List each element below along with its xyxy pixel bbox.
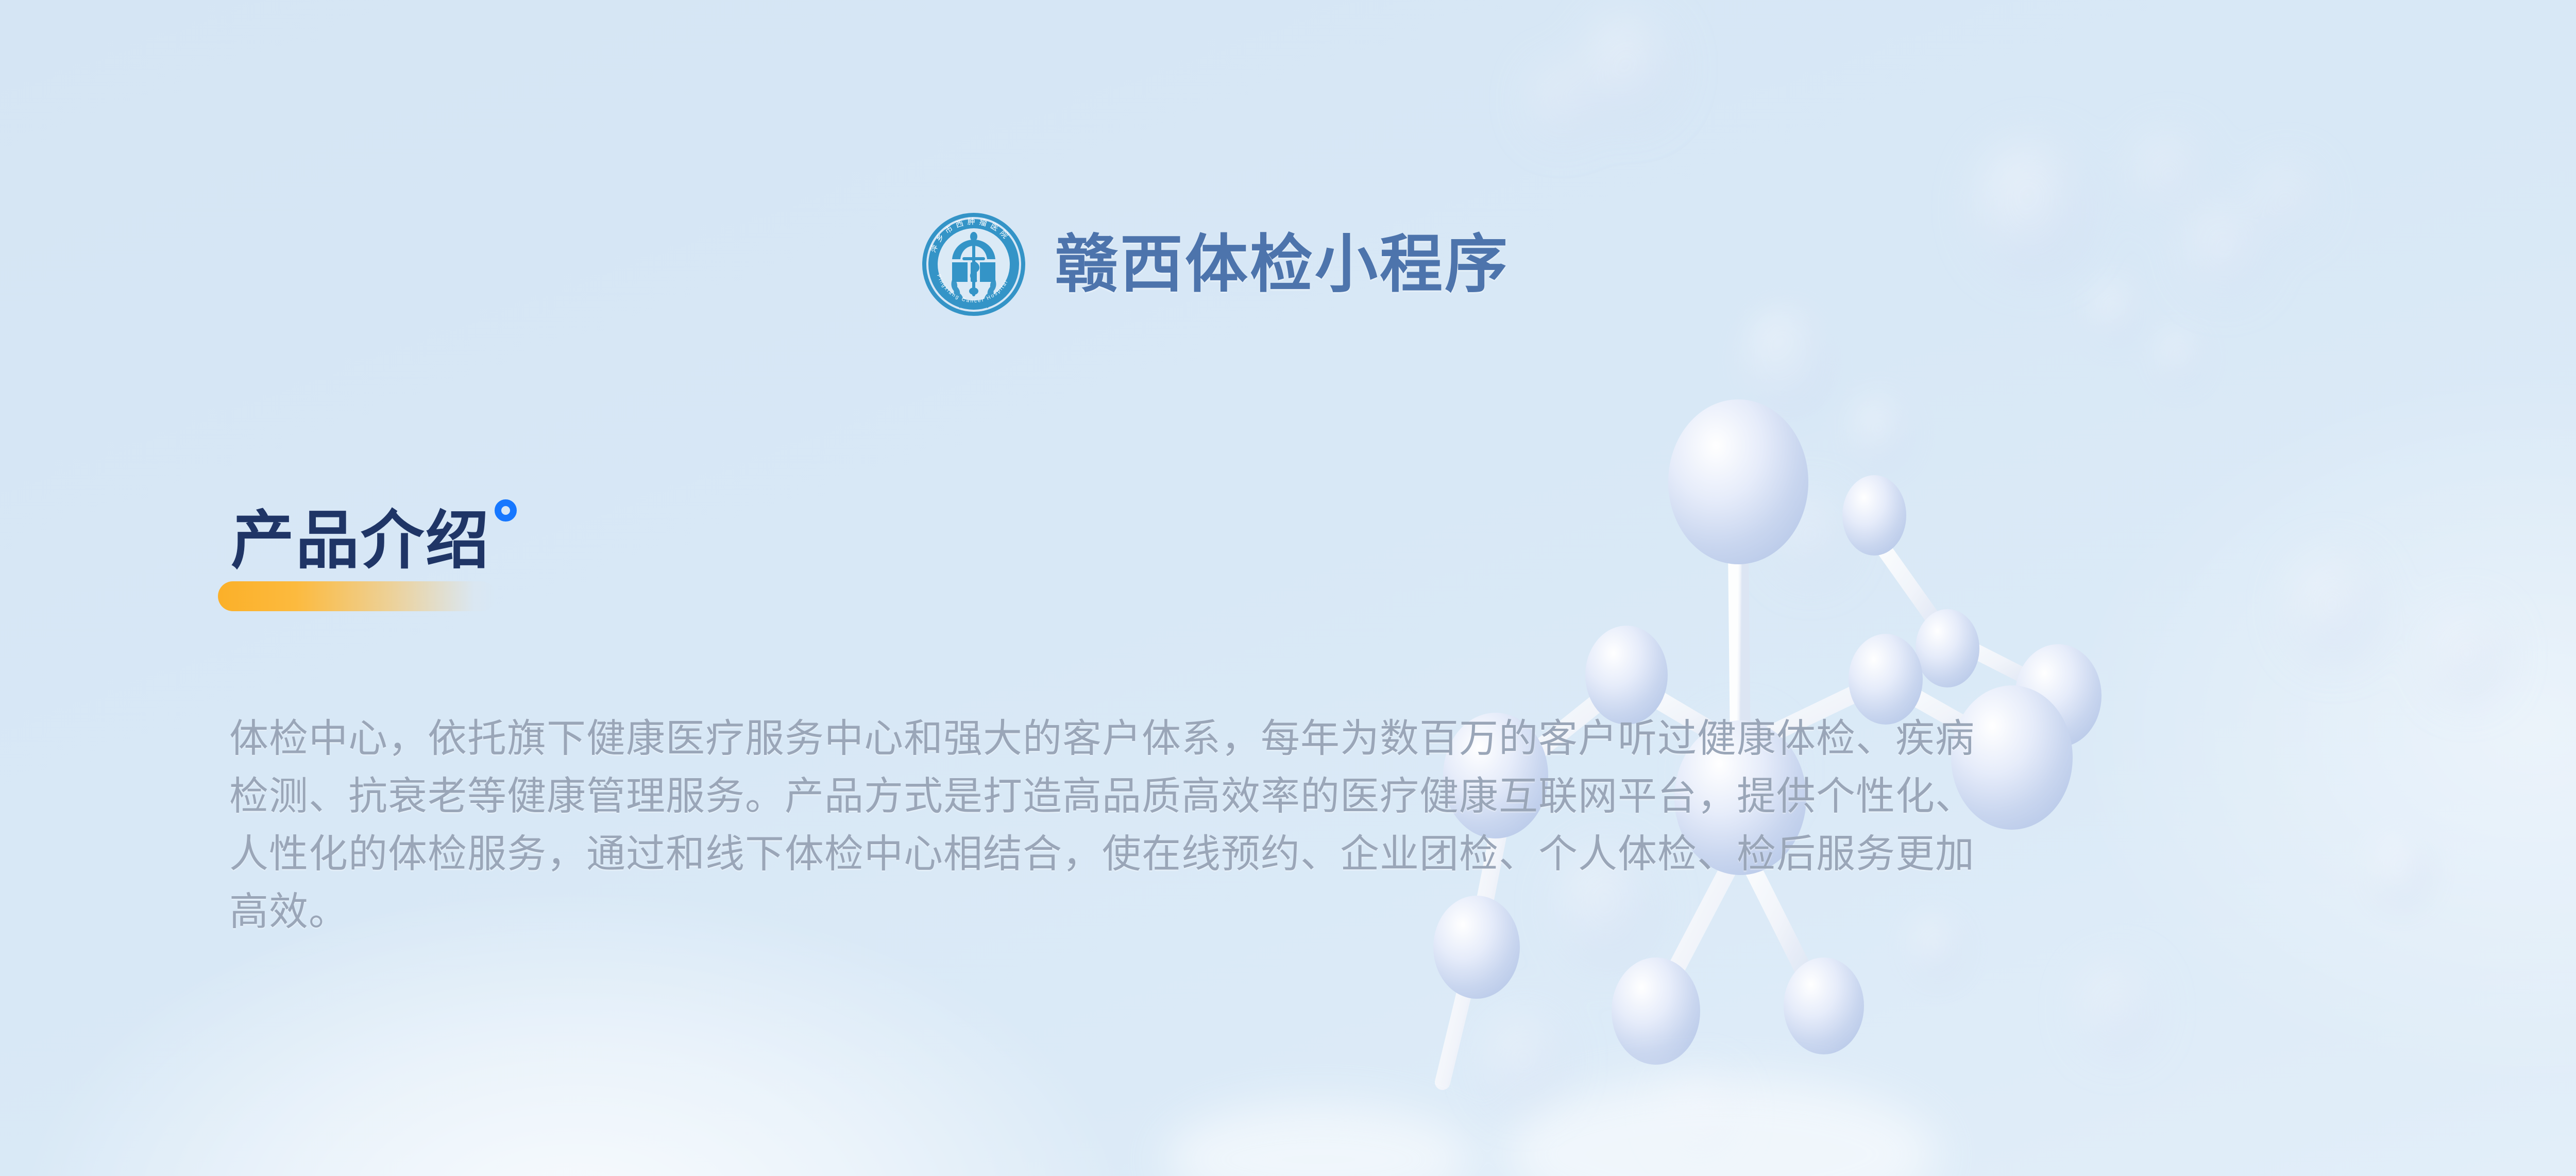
heading-underline-highlight: [218, 581, 496, 611]
description-line: 体检中心，依托旗下健康医疗服务中心和强大的客户体系，每年为数百万的客户听过健康体…: [229, 710, 2409, 768]
description-line: 高效。: [229, 883, 2409, 941]
section-heading-block: 产品介绍: [231, 508, 517, 575]
app-title: 赣西体检小程序: [1055, 233, 1510, 296]
app-header: 萍乡市西肿瘤医院 Pingxiang Cancer Hospital 赣西体检小…: [922, 213, 1510, 316]
ring-dot-accent-icon: [495, 499, 517, 522]
description-line: 人性化的体检服务，通过和线下体检中心相结合，使在线预约、企业团检、个人体检、检后…: [229, 826, 2409, 883]
hospital-crest-logo-icon: 萍乡市西肿瘤医院 Pingxiang Cancer Hospital: [922, 213, 1025, 316]
product-description: 体检中心，依托旗下健康医疗服务中心和强大的客户体系，每年为数百万的客户听过健康体…: [229, 710, 2409, 941]
page-title: 产品介绍: [231, 508, 490, 575]
product-intro-banner: 萍乡市西肿瘤医院 Pingxiang Cancer Hospital 赣西体检小…: [0, 0, 2576, 1176]
description-line: 检测、抗衰老等健康管理服务。产品方式是打造高品质高效率的医疗健康互联网平台，提供…: [229, 768, 2409, 826]
